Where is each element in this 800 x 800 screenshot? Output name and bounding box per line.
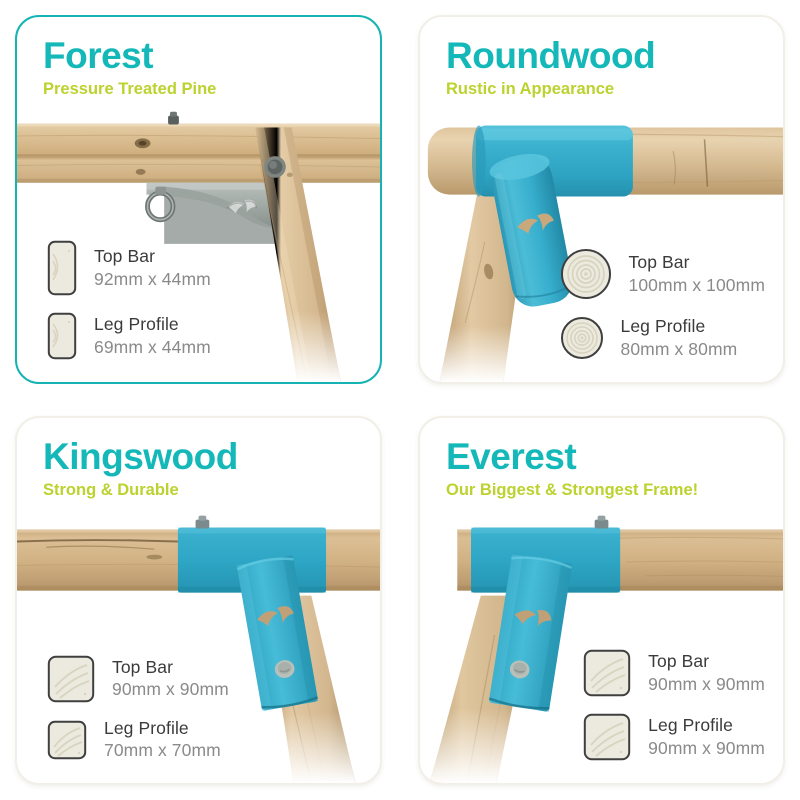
spec-dimensions: 100mm x 100mm xyxy=(629,276,765,296)
swatch-square-icon xyxy=(583,713,631,761)
swatch-circle-icon xyxy=(560,248,612,300)
spec-dimensions: 90mm x 90mm xyxy=(648,739,765,759)
spec-dimensions: 80mm x 80mm xyxy=(621,340,738,360)
spec-row-top-bar: Top Bar 100mm x 100mm xyxy=(560,248,765,300)
spec-dimensions: 70mm x 70mm xyxy=(104,741,221,761)
swatch-square-icon xyxy=(47,655,95,703)
spec-row-leg-profile: Leg Profile 69mm x 44mm xyxy=(47,312,211,360)
swatch-tall-rect-icon xyxy=(47,312,77,360)
spec-row-leg-profile: Leg Profile 70mm x 70mm xyxy=(47,719,229,761)
spec-name: Top Bar xyxy=(629,253,765,273)
spec-name: Leg Profile xyxy=(94,315,211,335)
spec-row-leg-profile: Leg Profile 80mm x 80mm xyxy=(560,316,765,360)
spec-name: Leg Profile xyxy=(648,716,765,736)
swatch-tall-rect-icon xyxy=(47,240,77,296)
swatch-square-icon xyxy=(47,720,87,760)
spec-name: Leg Profile xyxy=(621,317,738,337)
spec-dimensions: 92mm x 44mm xyxy=(94,270,211,290)
frame-card-everest[interactable]: Everest Our Biggest & Strongest Frame! T… xyxy=(418,416,785,785)
frame-card-forest[interactable]: Forest Pressure Treated Pine Top Bar 92m… xyxy=(15,15,382,384)
spec-name: Top Bar xyxy=(112,658,229,678)
spec-list-roundwood: Top Bar 100mm x 100mm Leg Profile xyxy=(560,248,765,360)
frame-card-kingswood[interactable]: Kingswood Strong & Durable Top Bar 90mm … xyxy=(15,416,382,785)
spec-dimensions: 90mm x 90mm xyxy=(648,675,765,695)
swatch-circle-icon xyxy=(560,316,604,360)
spec-list-forest: Top Bar 92mm x 44mm Leg Profile 69mm x 4… xyxy=(47,240,211,360)
spec-dimensions: 90mm x 90mm xyxy=(112,680,229,700)
spec-dimensions: 69mm x 44mm xyxy=(94,338,211,358)
spec-name: Top Bar xyxy=(94,247,211,267)
spec-name: Top Bar xyxy=(648,652,765,672)
spec-list-kingswood: Top Bar 90mm x 90mm Leg Profile 70mm xyxy=(47,655,229,761)
spec-row-top-bar: Top Bar 90mm x 90mm xyxy=(47,655,229,703)
swatch-square-icon xyxy=(583,649,631,697)
spec-row-top-bar: Top Bar 90mm x 90mm xyxy=(583,649,765,697)
spec-list-everest: Top Bar 90mm x 90mm Leg Profile 90mm xyxy=(583,649,765,761)
spec-row-top-bar: Top Bar 92mm x 44mm xyxy=(47,240,211,296)
spec-name: Leg Profile xyxy=(104,719,221,739)
frame-card-roundwood[interactable]: Roundwood Rustic in Appearance Top Bar xyxy=(418,15,785,384)
spec-row-leg-profile: Leg Profile 90mm x 90mm xyxy=(583,713,765,761)
frame-comparison-grid: Forest Pressure Treated Pine Top Bar 92m… xyxy=(0,0,800,800)
